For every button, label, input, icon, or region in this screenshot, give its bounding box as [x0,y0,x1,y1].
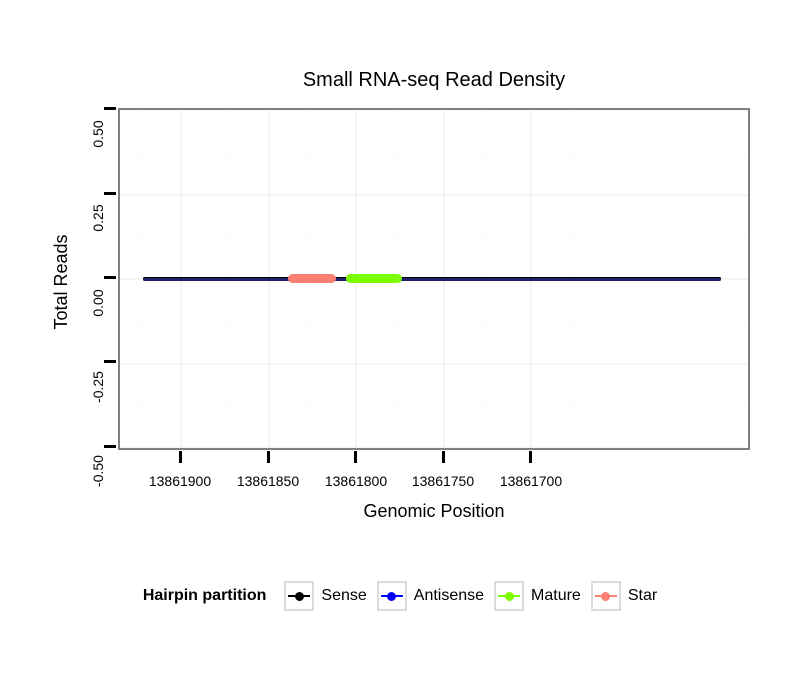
x-axis-tick [267,451,270,463]
legend-entry-antisense[interactable]: Antisense [377,581,484,611]
legend: Hairpin partition Sense Antisense Mature [0,578,810,614]
gridline-horizontal-major [120,194,748,196]
gridline-horizontal-major [120,109,748,111]
legend-key-star [591,581,621,611]
y-axis-tick-label: -0.25 [90,362,106,412]
y-axis-tick-label: -0.50 [90,446,106,496]
y-axis-tick-label: 0.25 [90,193,106,243]
legend-point-icon [387,592,396,601]
x-axis-tick-label: 13861750 [393,473,493,489]
legend-entry-star[interactable]: Star [591,581,657,611]
y-axis-tick-label: 0.00 [90,278,106,328]
gridline-horizontal-major [120,363,748,365]
legend-key-mature [494,581,524,611]
gridline-horizontal-major [120,447,748,449]
legend-label-sense: Sense [321,587,366,605]
legend-entry-sense[interactable]: Sense [284,581,366,611]
x-axis-tick-label: 13861850 [218,473,318,489]
chart-title: Small RNA-seq Read Density [118,68,750,92]
legend-title: Hairpin partition [143,587,267,605]
x-axis-tick [529,451,532,463]
x-axis-title: Genomic Position [118,500,750,522]
x-axis-tick [442,451,445,463]
legend-point-icon [295,592,304,601]
y-axis-title: Total Reads [50,111,72,453]
legend-label-star: Star [628,587,657,605]
legend-point-icon [505,592,514,601]
series-line-mature [346,274,402,283]
chart-figure: Small RNA-seq Read Density [0,0,810,690]
x-axis-tick [354,451,357,463]
gridline-horizontal-minor [120,405,748,406]
gridline-horizontal-minor [120,320,748,321]
plot-panel [118,108,750,450]
legend-entry-mature[interactable]: Mature [494,581,581,611]
x-axis-tick-label: 13861700 [481,473,581,489]
series-line-star [288,274,336,283]
x-axis-tick-label: 13861800 [306,473,406,489]
y-axis-tick-label: 0.50 [90,109,106,159]
legend-label-antisense: Antisense [414,587,484,605]
x-axis-tick-label: 13861900 [130,473,230,489]
legend-key-antisense [377,581,407,611]
gridline-horizontal-minor [120,236,748,237]
gridline-horizontal-minor [120,152,748,153]
legend-point-icon [601,592,610,601]
x-axis-tick [179,451,182,463]
series-line-antisense [143,278,721,281]
legend-key-sense [284,581,314,611]
legend-label-mature: Mature [531,587,581,605]
